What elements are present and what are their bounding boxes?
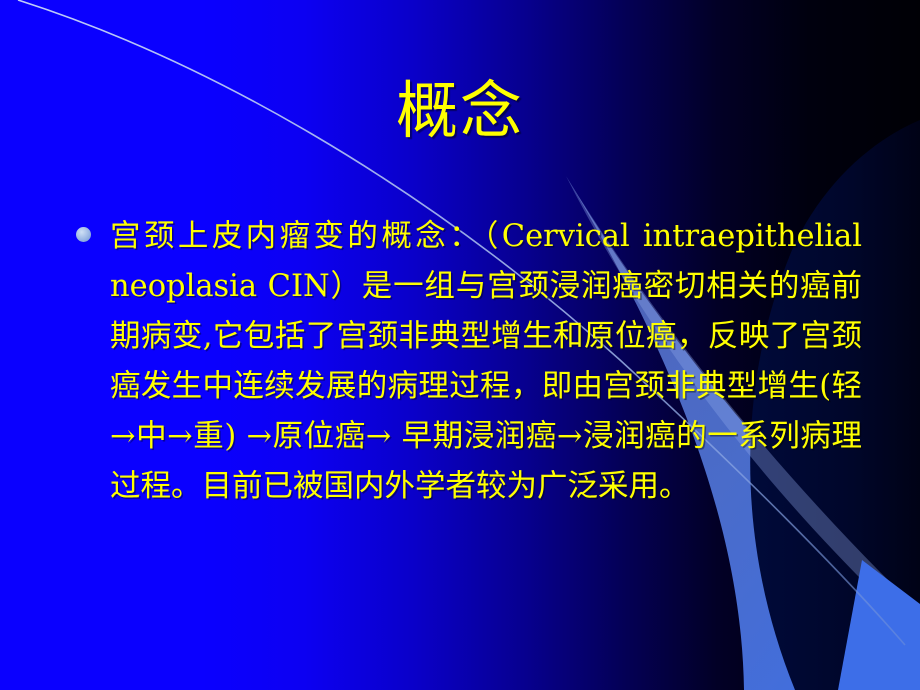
presentation-slide: 概念 宫颈上皮内瘤变的概念：（Cervical intraepithelial … bbox=[0, 0, 920, 690]
body-paragraph: 宫颈上皮内瘤变的概念：（Cervical intraepithelial neo… bbox=[110, 212, 862, 512]
bullet-dot-icon bbox=[76, 227, 91, 242]
bullet-list-item: 宫颈上皮内瘤变的概念：（Cervical intraepithelial neo… bbox=[72, 212, 862, 512]
content-placeholder: 宫颈上皮内瘤变的概念：（Cervical intraepithelial neo… bbox=[72, 212, 862, 512]
page-title: 概念 bbox=[0, 78, 920, 143]
